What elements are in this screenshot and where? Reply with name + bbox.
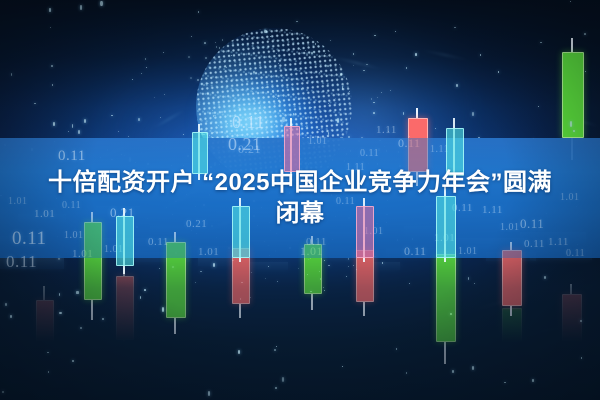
headline-line-2: 闭幕 bbox=[14, 199, 586, 230]
banner-image: 0.110.110.111.011.011.010.110.211.010.11… bbox=[0, 0, 600, 400]
banner-headline: 十倍配资开户 “2025中国企业竞争力年会”圆满 闭幕 bbox=[0, 168, 600, 229]
headline-line-1: 十倍配资开户 “2025中国企业竞争力年会”圆满 bbox=[14, 168, 586, 199]
